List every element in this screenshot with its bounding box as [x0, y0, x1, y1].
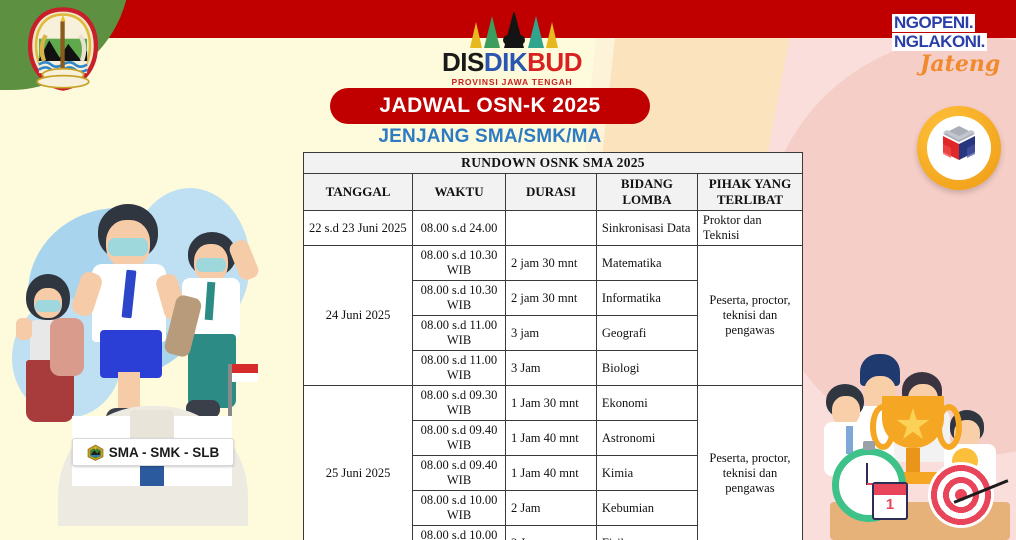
title-banner: JADWAL OSN-K 2025 — [330, 88, 650, 124]
cell-bidang: Ekonomi — [596, 386, 697, 421]
schedule-table-wrapper: RUNDOWN OSNK SMA 2025 TANGGAL WAKTU DURA… — [303, 152, 803, 540]
cell-waktu: 08.00 s.d 24.00 — [413, 211, 506, 246]
cell-durasi: 2 Jam — [506, 526, 597, 540]
small-emblem-icon — [87, 444, 104, 461]
students-with-trophy-illustration: 1 — [824, 352, 1016, 540]
school-sign-label: SMA - SMK - SLB — [109, 445, 220, 460]
cell-bidang: Informatika — [596, 281, 697, 316]
badge-inner-circle — [927, 116, 991, 180]
cell-durasi: 1 Jam 30 mnt — [506, 386, 597, 421]
logo-subtitle: PROVINSI JAWA TENGAH — [432, 77, 592, 87]
page-title: JADWAL OSN-K 2025 — [379, 94, 600, 118]
temple-spires-icon — [432, 12, 592, 48]
disdikbud-logo: DISDIKBUD PROVINSI JAWA TENGAH — [432, 12, 592, 84]
dartboard-icon — [928, 462, 994, 528]
trophy-stem — [906, 448, 920, 474]
schedule-table: RUNDOWN OSNK SMA 2025 TANGGAL WAKTU DURA… — [303, 152, 803, 540]
cell-tanggal: 24 Juni 2025 — [304, 246, 413, 386]
cell-bidang: Kebumian — [596, 491, 697, 526]
column-header-pihak: PIHAK YANG TERLIBAT — [697, 174, 802, 211]
cell-tanggal: 22 s.d 23 Juni 2025 — [304, 211, 413, 246]
rubiks-cube-badge — [917, 106, 1001, 190]
slogan-line-1: NGOPENI. — [892, 14, 975, 32]
cell-durasi: 2 jam 30 mnt — [506, 246, 597, 281]
cell-pihak: Peserta, proctor, teknisi dan pengawas — [697, 386, 802, 540]
calendar-day: 1 — [874, 495, 906, 514]
table-caption: RUNDOWN OSNK SMA 2025 — [304, 153, 803, 174]
cell-pihak: Proktor dan Teknisi — [697, 211, 802, 246]
rubiks-cube-icon — [927, 116, 991, 180]
column-header-tanggal: TANGGAL — [304, 174, 413, 211]
students-with-masks-illustration — [0, 178, 300, 540]
logo-part-bud: BUD — [527, 47, 582, 77]
column-header-waktu: WAKTU — [413, 174, 506, 211]
cell-waktu: 08.00 s.d 10.00 WIB — [413, 526, 506, 540]
cell-durasi: 1 Jam 40 mnt — [506, 421, 597, 456]
table-header-row: TANGGAL WAKTU DURASI BIDANG LOMBA PIHAK … — [304, 174, 803, 211]
cell-waktu: 08.00 s.d 09.40 WIB — [413, 421, 506, 456]
slogan-block: NGOPENI. NGLAKONI. Jateng — [892, 14, 1008, 75]
cell-waktu: 08.00 s.d 09.30 WIB — [413, 386, 506, 421]
cell-durasi: 3 Jam — [506, 351, 597, 386]
cell-tanggal: 25 Juni 2025 — [304, 386, 413, 540]
cell-pihak: Peserta, proctor, teknisi dan pengawas — [697, 246, 802, 386]
calendar-icon: 1 — [872, 482, 908, 520]
logo-part-dik: DIK — [484, 47, 527, 77]
cell-durasi: 2 Jam — [506, 491, 597, 526]
cell-durasi: 2 jam 30 mnt — [506, 281, 597, 316]
cell-bidang: Sinkronisasi Data — [596, 211, 697, 246]
cell-waktu: 08.00 s.d 09.40 WIB — [413, 456, 506, 491]
cell-waktu: 08.00 s.d 11.00 WIB — [413, 316, 506, 351]
calendar-header — [874, 484, 906, 495]
cell-waktu: 08.00 s.d 10.00 WIB — [413, 491, 506, 526]
cell-bidang: Biologi — [596, 351, 697, 386]
cell-bidang: Fisika — [596, 526, 697, 540]
logo-part-dis: DIS — [442, 47, 484, 77]
table-row: 25 Juni 2025 08.00 s.d 09.30 WIB 1 Jam 3… — [304, 386, 803, 421]
cell-bidang: Geografi — [596, 316, 697, 351]
column-header-durasi: DURASI — [506, 174, 597, 211]
table-row: 24 Juni 2025 08.00 s.d 10.30 WIB 2 jam 3… — [304, 246, 803, 281]
column-header-bidang: BIDANG LOMBA — [596, 174, 697, 211]
poster-canvas: SMA - SMK - SLB — [0, 0, 1016, 540]
cell-waktu: 08.00 s.d 10.30 WIB — [413, 281, 506, 316]
table-caption-row: RUNDOWN OSNK SMA 2025 — [304, 153, 803, 174]
jawa-tengah-emblem — [20, 6, 106, 92]
slogan-jateng: Jateng — [920, 53, 1008, 75]
table-row: 22 s.d 23 Juni 2025 08.00 s.d 24.00 Sink… — [304, 211, 803, 246]
cell-waktu: 08.00 s.d 10.30 WIB — [413, 246, 506, 281]
cell-bidang: Matematika — [596, 246, 697, 281]
cell-waktu: 08.00 s.d 11.00 WIB — [413, 351, 506, 386]
page-subtitle: JENJANG SMA/SMK/MA — [330, 126, 650, 148]
slogan-line-2: NGLAKONI. — [892, 33, 987, 51]
cell-bidang: Astronomi — [596, 421, 697, 456]
school-type-sign: SMA - SMK - SLB — [72, 438, 234, 466]
cell-bidang: Kimia — [596, 456, 697, 491]
cell-durasi: 3 jam — [506, 316, 597, 351]
cell-durasi — [506, 211, 597, 246]
cell-durasi: 1 Jam 40 mnt — [506, 456, 597, 491]
